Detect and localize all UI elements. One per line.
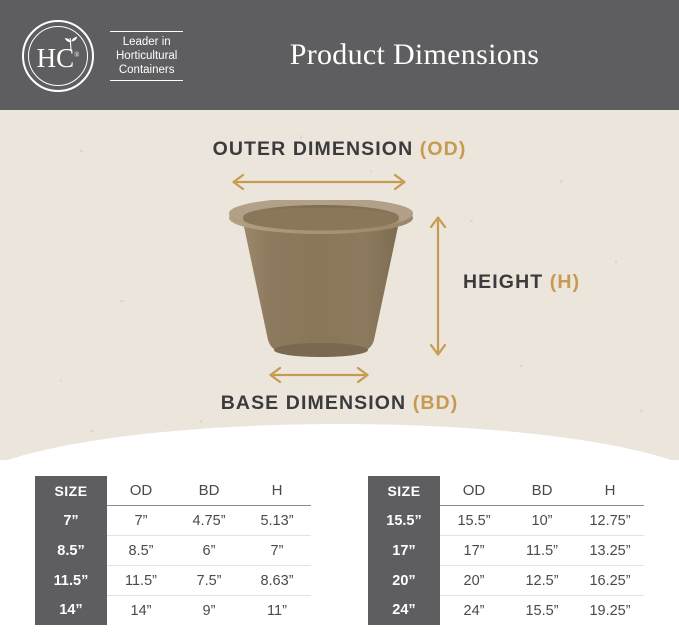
cell-h: 8.63” xyxy=(243,566,311,596)
tagline-rule-bottom xyxy=(110,80,183,81)
column-header-h: H xyxy=(243,476,311,506)
column-header-size: SIZE xyxy=(35,476,107,506)
registered-trademark-icon: ® xyxy=(74,51,79,59)
cell-size: 11.5” xyxy=(35,566,107,596)
cell-size: 8.5” xyxy=(35,536,107,566)
cell-h: 13.25” xyxy=(576,536,644,566)
cell-size: 24” xyxy=(368,596,440,626)
table-row: 24” 24” 15.5” 19.25” xyxy=(368,596,644,626)
cell-bd: 12.5” xyxy=(508,566,576,596)
base-dimension-text: BASE DIMENSION xyxy=(221,392,413,414)
base-dimension-arrow-icon xyxy=(265,366,373,384)
size-chart-small: SIZE OD BD H 7” 7” 4.75” 5.13” 8.5” 8.5”… xyxy=(35,476,311,625)
tagline-line-3: Containers xyxy=(116,63,177,77)
table-row: 11.5” 11.5” 7.5” 8.63” xyxy=(35,566,311,596)
tagline-line-2: Horticultural xyxy=(116,49,177,63)
table-row: 20” 20” 12.5” 16.25” xyxy=(368,566,644,596)
cell-size: 15.5” xyxy=(368,506,440,536)
outer-dimension-abbr: (OD) xyxy=(420,138,467,160)
cell-size: 17” xyxy=(368,536,440,566)
logo-monogram: HC® xyxy=(37,45,80,72)
height-label: HEIGHT (H) xyxy=(463,271,580,294)
table-row: 14” 14” 9” 11” xyxy=(35,596,311,626)
column-header-bd: BD xyxy=(175,476,243,506)
column-header-od: OD xyxy=(440,476,508,506)
cell-bd: 9” xyxy=(175,596,243,626)
cell-bd: 6” xyxy=(175,536,243,566)
outer-dimension-arrow-icon xyxy=(228,173,410,191)
cell-od: 7” xyxy=(107,506,175,536)
cell-h: 19.25” xyxy=(576,596,644,626)
size-charts: SIZE OD BD H 7” 7” 4.75” 5.13” 8.5” 8.5”… xyxy=(0,476,679,625)
outer-dimension-label: OUTER DIMENSION (OD) xyxy=(0,138,679,161)
planter-pot-illustration xyxy=(225,200,417,360)
cell-bd: 11.5” xyxy=(508,536,576,566)
tagline-line-1: Leader in xyxy=(116,35,177,49)
table-header-row: SIZE OD BD H xyxy=(368,476,644,506)
table-row: 17” 17” 11.5” 13.25” xyxy=(368,536,644,566)
cell-h: 7” xyxy=(243,536,311,566)
outer-dimension-text: OUTER DIMENSION xyxy=(213,138,420,160)
cell-od: 14” xyxy=(107,596,175,626)
cell-size: 20” xyxy=(368,566,440,596)
tagline-lines: Leader in Horticultural Containers xyxy=(110,32,183,80)
base-dimension-abbr: (BD) xyxy=(413,392,459,414)
height-abbr: (H) xyxy=(550,271,580,293)
header-bar: HC® Leader in Horticultural Containers P… xyxy=(0,0,679,110)
cell-size: 7” xyxy=(35,506,107,536)
cell-bd: 15.5” xyxy=(508,596,576,626)
base-dimension-label: BASE DIMENSION (BD) xyxy=(0,392,679,415)
cell-od: 11.5” xyxy=(107,566,175,596)
column-header-od: OD xyxy=(107,476,175,506)
cell-h: 12.75” xyxy=(576,506,644,536)
height-text: HEIGHT xyxy=(463,271,550,293)
cell-od: 24” xyxy=(440,596,508,626)
cell-od: 8.5” xyxy=(107,536,175,566)
cell-od: 20” xyxy=(440,566,508,596)
cell-bd: 7.5” xyxy=(175,566,243,596)
product-dimensions-infographic: HC® Leader in Horticultural Containers P… xyxy=(0,0,679,636)
column-header-h: H xyxy=(576,476,644,506)
size-chart-large: SIZE OD BD H 15.5” 15.5” 10” 12.75” 17” … xyxy=(368,476,644,625)
table-row: 7” 7” 4.75” 5.13” xyxy=(35,506,311,536)
logo-tagline: Leader in Horticultural Containers xyxy=(108,31,185,81)
column-header-size: SIZE xyxy=(368,476,440,506)
cell-od: 17” xyxy=(440,536,508,566)
cell-h: 5.13” xyxy=(243,506,311,536)
cell-od: 15.5” xyxy=(440,506,508,536)
table-row: 15.5” 15.5” 10” 12.75” xyxy=(368,506,644,536)
table-row: 8.5” 8.5” 6” 7” xyxy=(35,536,311,566)
cell-h: 16.25” xyxy=(576,566,644,596)
cell-bd: 4.75” xyxy=(175,506,243,536)
cell-size: 14” xyxy=(35,596,107,626)
column-header-bd: BD xyxy=(508,476,576,506)
logo-circle-mark: HC® xyxy=(22,20,94,92)
height-arrow-icon xyxy=(429,213,447,359)
cell-h: 11” xyxy=(243,596,311,626)
brand-logo: HC® Leader in Horticultural Containers xyxy=(22,20,185,92)
table-header-row: SIZE OD BD H xyxy=(35,476,311,506)
logo-monogram-text: HC xyxy=(37,43,75,73)
panel-bottom-curve xyxy=(0,424,679,460)
cell-bd: 10” xyxy=(508,506,576,536)
